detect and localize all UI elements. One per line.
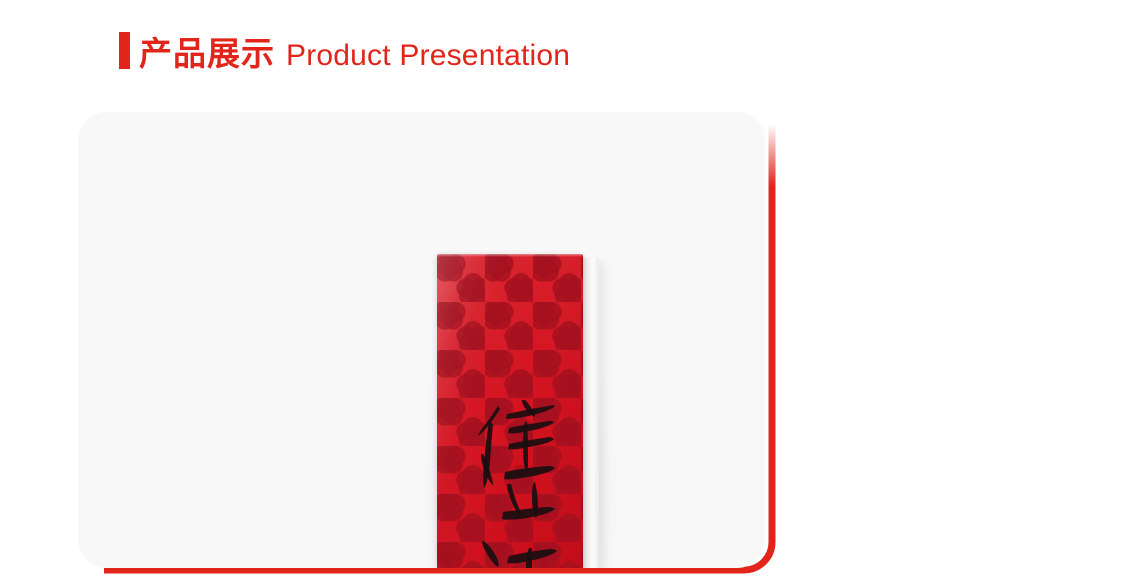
box-top-edge — [437, 254, 583, 257]
product-box-front-face — [437, 254, 583, 568]
product-box-side-face — [581, 258, 599, 568]
box-gloss-highlight — [437, 254, 583, 568]
section-header: 产品展示 Product Presentation — [119, 28, 570, 71]
page-root: 产品展示 Product Presentation — [0, 0, 1140, 586]
page-title-en: Product Presentation — [286, 41, 570, 71]
page-title-cn: 产品展示 — [139, 37, 275, 70]
vertical-bar-accent-icon — [119, 32, 130, 69]
product-image[interactable] — [78, 112, 765, 568]
